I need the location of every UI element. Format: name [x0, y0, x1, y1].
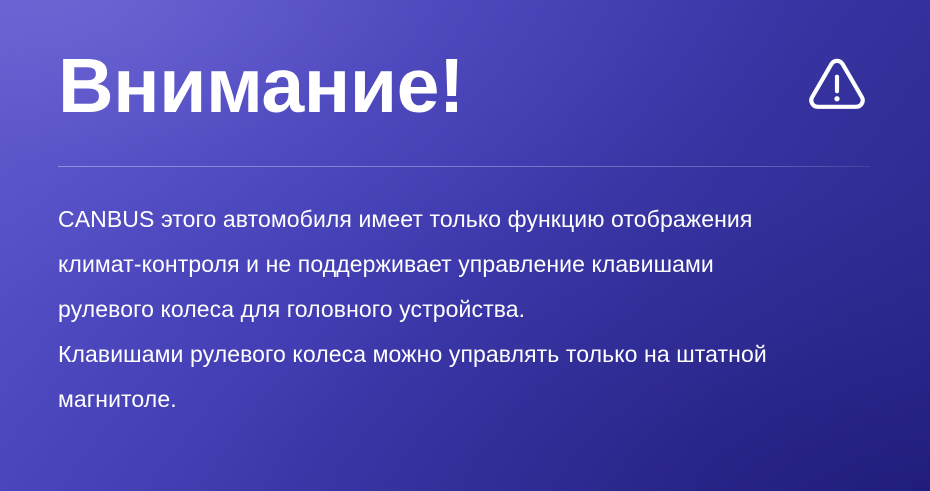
warning-triangle-icon	[808, 54, 866, 112]
banner-header: Внимание!	[58, 0, 870, 166]
banner-content: Внимание! CANBUS этого автомобиля имеет …	[0, 0, 930, 491]
warning-banner: Внимание! CANBUS этого автомобиля имеет …	[0, 0, 930, 491]
body-line: магнитоле.	[58, 377, 870, 422]
body-line: Клавишами рулевого колеса можно управлят…	[58, 332, 870, 377]
banner-title: Внимание!	[58, 42, 464, 125]
banner-body: CANBUS этого автомобиля имеет только фун…	[58, 167, 870, 422]
body-line: CANBUS этого автомобиля имеет только фун…	[58, 197, 870, 242]
body-line: рулевого колеса для головного устройства…	[58, 287, 870, 332]
body-line: климат-контроля и не поддерживает управл…	[58, 242, 870, 287]
